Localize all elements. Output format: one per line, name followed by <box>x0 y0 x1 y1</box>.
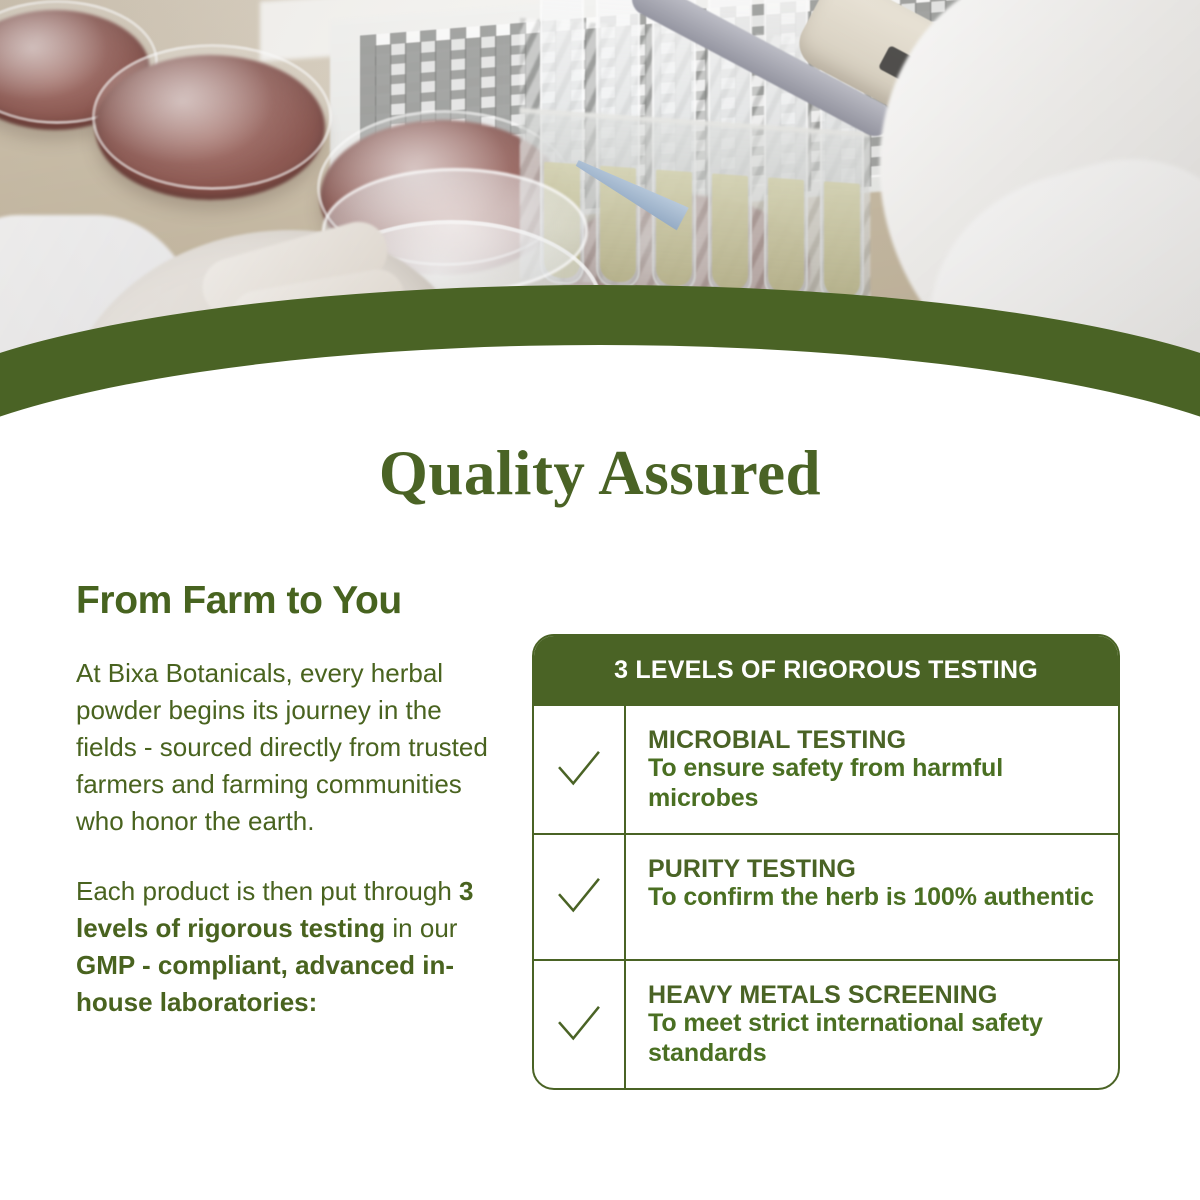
section-heading: From Farm to You <box>76 580 506 623</box>
row-description: To ensure safety from harmful microbes <box>648 754 1098 813</box>
quality-assured-poster: Quality Assured From Farm to You At Bixa… <box>0 0 1200 1200</box>
row-description: To meet strict international safety stan… <box>648 1009 1098 1068</box>
table-row: HEAVY METALS SCREENING To meet strict in… <box>534 959 1118 1088</box>
table-row: PURITY TESTING To confirm the herb is 10… <box>534 833 1118 959</box>
hero-photo <box>0 0 1200 500</box>
petri-dish-lid <box>92 44 332 190</box>
row-description: To confirm the herb is 100% authentic <box>648 883 1098 913</box>
check-cell <box>534 706 626 833</box>
table-row: MICROBIAL TESTING To ensure safety from … <box>534 704 1118 833</box>
card-header: 3 LEVELS OF RIGOROUS TESTING <box>534 636 1118 704</box>
testing-levels-card: 3 LEVELS OF RIGOROUS TESTING MICROBIAL T… <box>532 634 1120 1090</box>
page-title: Quality Assured <box>0 437 1200 510</box>
row-text: PURITY TESTING To confirm the herb is 10… <box>626 835 1118 959</box>
left-content-column: From Farm to You At Bixa Botanicals, eve… <box>76 580 506 1055</box>
check-cell <box>534 961 626 1088</box>
row-text: HEAVY METALS SCREENING To meet strict in… <box>626 961 1118 1088</box>
row-text: MICROBIAL TESTING To ensure safety from … <box>626 706 1118 833</box>
checkmark-icon <box>556 874 602 920</box>
row-title: MICROBIAL TESTING <box>648 726 1098 754</box>
intro-paragraph: At Bixa Botanicals, every herbal powder … <box>76 655 496 840</box>
checkmark-icon <box>556 747 602 793</box>
row-title: HEAVY METALS SCREENING <box>648 981 1098 1009</box>
checkmark-icon <box>556 1002 602 1048</box>
row-title: PURITY TESTING <box>648 855 1098 883</box>
check-cell <box>534 835 626 959</box>
testing-paragraph: Each product is then put through 3 level… <box>76 873 496 1021</box>
